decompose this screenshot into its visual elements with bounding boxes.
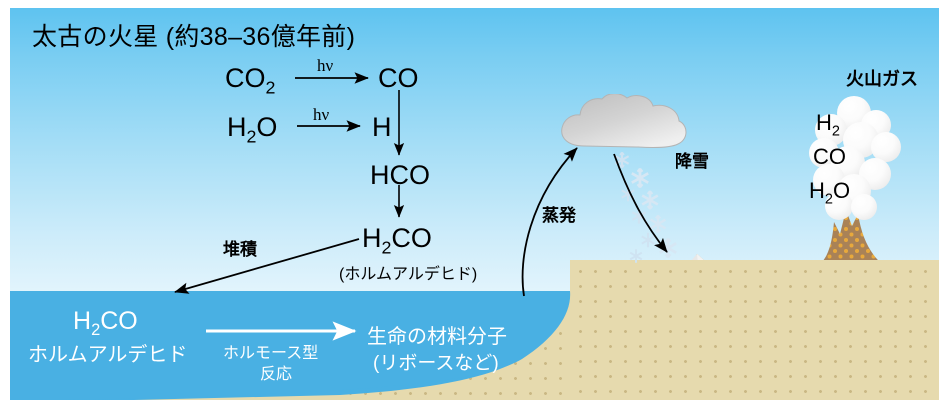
species-co: CO [378, 63, 419, 94]
evaporation-label: 蒸発 [542, 201, 576, 226]
formose-reaction-label-2: 反応 [260, 360, 292, 384]
arrow-deposition [175, 239, 359, 292]
arrow-snowfall [614, 154, 667, 252]
formaldehyde-note: (ホルムアルデヒド) [339, 260, 477, 284]
species-hco: HCO [370, 160, 430, 191]
species-h-label: H [372, 112, 392, 142]
species-h2o-label: H2O [227, 112, 277, 142]
ocean-product-line-1: 生命の材料分子 [367, 320, 507, 349]
species-h2co-label: H2CO [362, 223, 432, 253]
page-title: 太古の火星 (約38–36億年前) [32, 17, 355, 53]
ocean-reactant-formula: H2CO [73, 307, 138, 340]
species-hco-label: HCO [370, 160, 430, 190]
gas-h2-label: H2 [816, 110, 840, 135]
gas-h2: H2 [816, 110, 840, 139]
species-co-label: CO [378, 63, 419, 93]
snowfall-label: 降雪 [675, 147, 709, 172]
photon-label-co2: hν [317, 56, 333, 76]
gas-co-label: CO [813, 144, 846, 169]
species-co2-label: CO2 [225, 63, 275, 93]
species-h2o: H2O [227, 112, 277, 147]
ocean-reactant-formula-label: H2CO [73, 307, 138, 335]
diagram-canvas: CO --> H --> HCO (long vertical) --> H2C… [0, 0, 949, 407]
species-h: H [372, 112, 392, 143]
gas-h2o: H2O [809, 178, 850, 207]
gas-h2o-label: H2O [809, 178, 850, 203]
gas-co: CO [813, 144, 846, 170]
volcanic-gas-title: 火山ガス [846, 65, 918, 91]
ocean-reactant-name: ホルムアルデヒド [28, 338, 187, 367]
scene: CO --> H --> HCO (long vertical) --> H2C… [10, 8, 939, 400]
deposition-label: 堆積 [223, 235, 257, 260]
ocean-product-line-2: (リボースなど) [373, 348, 499, 375]
photon-label-h2o: hν [313, 105, 329, 125]
species-co2: CO2 [225, 63, 275, 98]
species-h2co: H2CO [362, 223, 432, 258]
